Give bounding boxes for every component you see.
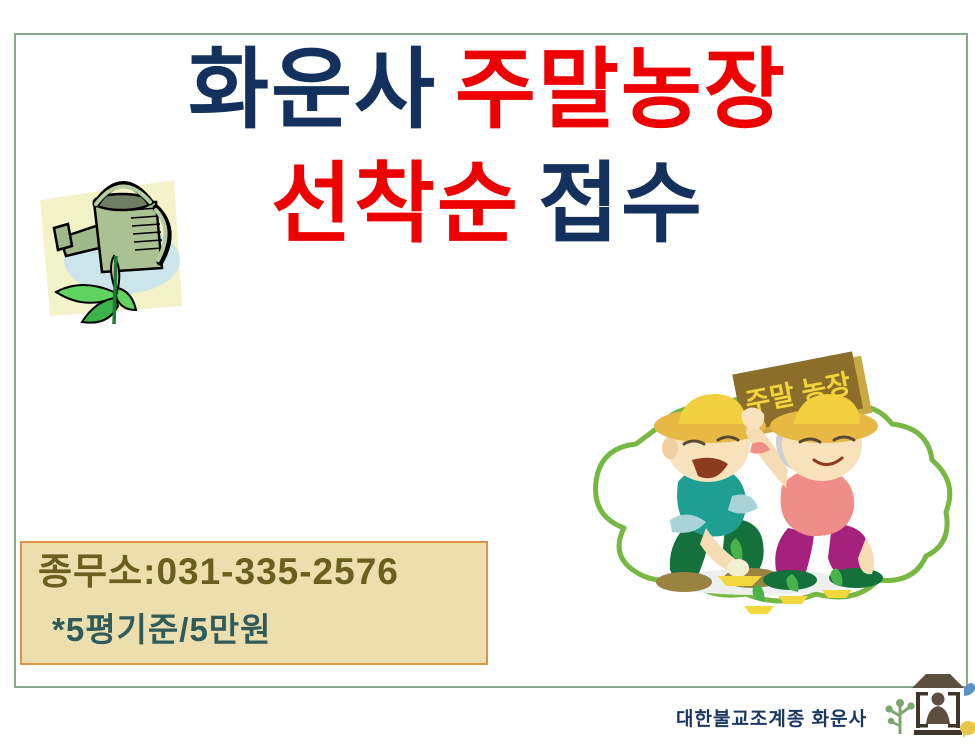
logo-blue-bird-icon [964,683,975,696]
logo-base-left [916,724,928,728]
logo-beam-left [916,692,928,696]
temple-shrine-logo [884,666,975,751]
logo-base-right [948,724,960,728]
logo-plant-icon [885,699,914,734]
man-ear [662,437,678,459]
logo-yellow-bird-tail [962,732,967,738]
logo-yellow-bird-icon [960,721,975,738]
contact-info-box: 종무소:031-335-2576 *5평기준/5만원 [20,541,488,665]
title-weekend-farm: 주말농장 [455,40,787,139]
logo-yellow-bird-body [960,721,975,735]
office-phone-text: 종무소:031-335-2576 [38,551,486,594]
sprout-c-soil [744,606,774,614]
price-note-text: *5평기준/5만원 [38,603,486,651]
logo-shrine-roof [912,674,964,688]
title-line-1: 화운사주말농장 [0,46,975,134]
man-shoe-left [656,572,712,592]
organization-name: 대한불교조계종 화운사 [676,704,867,731]
logo-pillar-right [956,692,960,728]
weekend-farm-illustration: 주말 농장 [566,332,975,632]
poster-canvas: 화운사주말농장 선착순접수 [0,0,975,751]
logo-platform [914,730,962,735]
logo-plant-bud-right [907,702,914,709]
logo-beam-right [948,692,960,696]
title-temple-name: 화운사 [188,40,437,139]
watering-can-spout-tip [54,224,72,250]
logo-plant-bud-lower [888,718,894,724]
sprout-stem [114,256,116,324]
title-first-come: 선착순 [271,154,520,253]
logo-buddha-body [926,706,950,724]
logo-pillar-left [916,692,920,728]
watering-can-body [94,202,162,272]
watering-can-illustration [22,158,194,330]
title-registration: 접수 [538,154,704,253]
man-plant-root [727,559,749,577]
logo-plant-bud-left [885,705,892,712]
logo-plant-bud-top [896,699,904,707]
logo-buddha-head [932,693,945,706]
